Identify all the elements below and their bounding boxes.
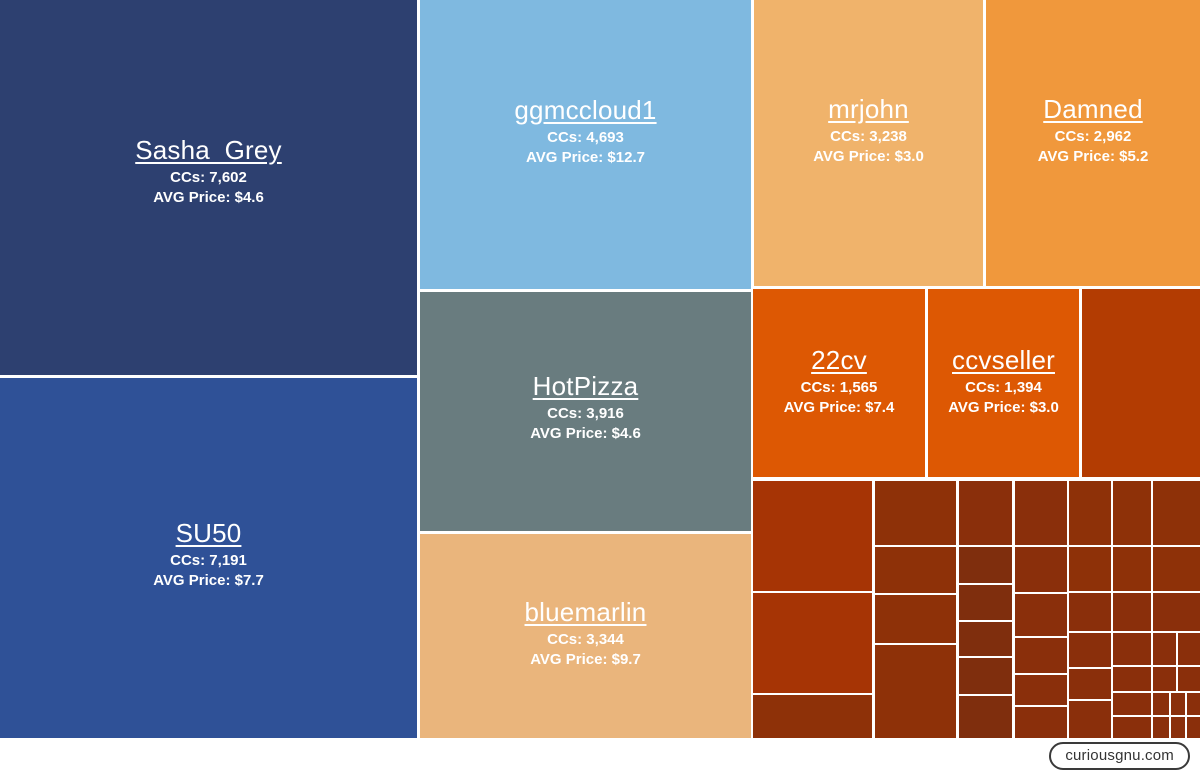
tile-label-group: Sasha_GreyCCs: 7,602AVG Price: $4.6 bbox=[0, 135, 417, 207]
treemap-tile-ggmccloud1[interactable]: ggmccloud1CCs: 4,693AVG Price: $12.7 bbox=[420, 0, 751, 289]
treemap-tile-unlabeled[interactable] bbox=[1113, 717, 1151, 738]
tile-avg-price-value: AVG Price: $3.0 bbox=[813, 148, 924, 166]
treemap-tile-unlabeled[interactable] bbox=[1082, 289, 1200, 477]
treemap-tile-unlabeled[interactable] bbox=[1015, 707, 1067, 738]
tile-ccs-value: CCs: 2,962 bbox=[1055, 128, 1132, 146]
treemap-tile-unlabeled[interactable] bbox=[1113, 667, 1151, 691]
treemap-tile-unlabeled[interactable] bbox=[1069, 547, 1111, 591]
treemap-tile-unlabeled[interactable] bbox=[959, 481, 1012, 545]
tile-label-group: DamnedCCs: 2,962AVG Price: $5.2 bbox=[986, 94, 1200, 166]
tile-ccs-value: CCs: 1,565 bbox=[801, 379, 878, 397]
treemap-tile-unlabeled[interactable] bbox=[1015, 594, 1067, 636]
treemap-tile-unlabeled[interactable] bbox=[1015, 675, 1067, 705]
treemap-tile-unlabeled[interactable] bbox=[1069, 701, 1111, 738]
treemap-tile-unlabeled[interactable] bbox=[1153, 667, 1176, 691]
tile-label-group: mrjohnCCs: 3,238AVG Price: $3.0 bbox=[754, 94, 983, 166]
tile-ccs-value: CCs: 3,344 bbox=[547, 631, 624, 649]
treemap-tile-su50[interactable]: SU50CCs: 7,191AVG Price: $7.7 bbox=[0, 378, 417, 738]
tile-label-spacer bbox=[420, 292, 751, 371]
tile-title: HotPizza bbox=[533, 371, 639, 403]
tile-avg-price-value: AVG Price: $12.7 bbox=[526, 149, 645, 167]
treemap-tile-unlabeled[interactable] bbox=[959, 585, 1012, 620]
treemap-tile-sasha_grey[interactable]: Sasha_GreyCCs: 7,602AVG Price: $4.6 bbox=[0, 0, 417, 375]
tile-label-spacer bbox=[753, 289, 925, 345]
treemap-tile-unlabeled[interactable] bbox=[875, 595, 956, 643]
treemap-tile-unlabeled[interactable] bbox=[959, 696, 1012, 738]
treemap-tile-unlabeled[interactable] bbox=[1171, 717, 1185, 738]
treemap-tile-unlabeled[interactable] bbox=[1153, 547, 1200, 591]
treemap-tile-unlabeled[interactable] bbox=[1069, 593, 1111, 631]
treemap-tile-unlabeled[interactable] bbox=[1153, 481, 1200, 545]
treemap-tile-mrjohn[interactable]: mrjohnCCs: 3,238AVG Price: $3.0 bbox=[754, 0, 983, 286]
treemap-tile-unlabeled[interactable] bbox=[753, 695, 872, 738]
treemap-tile-unlabeled[interactable] bbox=[1113, 481, 1151, 545]
tile-label-spacer bbox=[420, 534, 751, 597]
treemap-tile-unlabeled[interactable] bbox=[1178, 667, 1200, 691]
treemap-tile-unlabeled[interactable] bbox=[959, 547, 1012, 583]
tile-avg-price-value: AVG Price: $3.0 bbox=[948, 399, 1059, 417]
tile-title: Sasha_Grey bbox=[135, 135, 282, 167]
tile-title: ggmccloud1 bbox=[514, 95, 656, 127]
watermark-label: curiousgnu.com bbox=[1065, 747, 1174, 764]
treemap-tile-unlabeled[interactable] bbox=[753, 593, 872, 693]
treemap-tile-unlabeled[interactable] bbox=[1113, 693, 1151, 715]
treemap-tile-unlabeled[interactable] bbox=[959, 658, 1012, 694]
treemap-tile-ccvseller[interactable]: ccvsellerCCs: 1,394AVG Price: $3.0 bbox=[928, 289, 1079, 477]
tile-avg-price-value: AVG Price: $7.4 bbox=[784, 399, 895, 417]
treemap-tile-unlabeled[interactable] bbox=[1153, 693, 1169, 715]
tile-label-spacer bbox=[0, 378, 417, 518]
tile-label-group: bluemarlinCCs: 3,344AVG Price: $9.7 bbox=[420, 597, 751, 669]
tile-avg-price-value: AVG Price: $5.2 bbox=[1038, 148, 1149, 166]
tile-ccs-value: CCs: 3,916 bbox=[547, 405, 624, 423]
tile-label-group: ggmccloud1CCs: 4,693AVG Price: $12.7 bbox=[420, 95, 751, 167]
tile-label-spacer bbox=[0, 0, 417, 135]
tile-label-group: HotPizzaCCs: 3,916AVG Price: $4.6 bbox=[420, 371, 751, 443]
treemap-tile-unlabeled[interactable] bbox=[1171, 693, 1185, 715]
treemap-tile-unlabeled[interactable] bbox=[1187, 717, 1200, 738]
tile-label-spacer bbox=[986, 0, 1200, 94]
treemap-tile-unlabeled[interactable] bbox=[1015, 481, 1067, 545]
tile-label-group: ccvsellerCCs: 1,394AVG Price: $3.0 bbox=[928, 345, 1079, 417]
treemap-tile-unlabeled[interactable] bbox=[1069, 669, 1111, 699]
treemap-tile-hotpizza[interactable]: HotPizzaCCs: 3,916AVG Price: $4.6 bbox=[420, 292, 751, 531]
tile-avg-price-value: AVG Price: $7.7 bbox=[153, 572, 264, 590]
treemap-tile-bluemarlin[interactable]: bluemarlinCCs: 3,344AVG Price: $9.7 bbox=[420, 534, 751, 738]
treemap-tile-unlabeled[interactable] bbox=[875, 481, 956, 545]
treemap-tile-unlabeled[interactable] bbox=[1069, 633, 1111, 667]
treemap-tile-unlabeled[interactable] bbox=[1113, 633, 1151, 665]
tile-ccs-value: CCs: 7,191 bbox=[170, 552, 247, 570]
treemap-tile-damned[interactable]: DamnedCCs: 2,962AVG Price: $5.2 bbox=[986, 0, 1200, 286]
tile-ccs-value: CCs: 7,602 bbox=[170, 169, 247, 187]
tile-title: SU50 bbox=[176, 518, 242, 550]
treemap-chart: Sasha_GreyCCs: 7,602AVG Price: $4.6SU50C… bbox=[0, 0, 1200, 738]
tile-ccs-value: CCs: 1,394 bbox=[965, 379, 1042, 397]
treemap-tile-unlabeled[interactable] bbox=[1015, 547, 1067, 592]
treemap-tile-unlabeled[interactable] bbox=[1015, 638, 1067, 673]
tile-label-spacer bbox=[420, 0, 751, 95]
treemap-tile-unlabeled[interactable] bbox=[1153, 633, 1176, 665]
tile-title: 22cv bbox=[811, 345, 867, 377]
treemap-tile-unlabeled[interactable] bbox=[1113, 547, 1151, 591]
treemap-tile-unlabeled[interactable] bbox=[1178, 633, 1200, 665]
tile-label-group: 22cvCCs: 1,565AVG Price: $7.4 bbox=[753, 345, 925, 417]
tile-title: Damned bbox=[1043, 94, 1142, 126]
tile-avg-price-value: AVG Price: $4.6 bbox=[153, 189, 264, 207]
treemap-tile-unlabeled[interactable] bbox=[753, 481, 872, 591]
tile-avg-price-value: AVG Price: $4.6 bbox=[530, 425, 641, 443]
treemap-tile-unlabeled[interactable] bbox=[1069, 481, 1111, 545]
treemap-tile-unlabeled[interactable] bbox=[1153, 593, 1200, 631]
tile-title: bluemarlin bbox=[525, 597, 647, 629]
treemap-tile-unlabeled[interactable] bbox=[875, 645, 956, 738]
tile-ccs-value: CCs: 4,693 bbox=[547, 129, 624, 147]
tile-title: mrjohn bbox=[828, 94, 909, 126]
tile-label-spacer bbox=[928, 289, 1079, 345]
tile-ccs-value: CCs: 3,238 bbox=[830, 128, 907, 146]
watermark-badge: curiousgnu.com bbox=[1049, 742, 1190, 770]
treemap-tile-unlabeled[interactable] bbox=[1113, 593, 1151, 631]
tile-avg-price-value: AVG Price: $9.7 bbox=[530, 651, 641, 669]
treemap-tile-unlabeled[interactable] bbox=[875, 547, 956, 593]
tile-label-group: SU50CCs: 7,191AVG Price: $7.7 bbox=[0, 518, 417, 590]
tile-label-spacer bbox=[754, 0, 983, 94]
tile-title: ccvseller bbox=[952, 345, 1055, 377]
treemap-tile-unlabeled[interactable] bbox=[1153, 717, 1169, 738]
treemap-tile-unlabeled[interactable] bbox=[959, 622, 1012, 656]
treemap-tile-unlabeled[interactable] bbox=[1187, 693, 1200, 715]
treemap-tile-22cv[interactable]: 22cvCCs: 1,565AVG Price: $7.4 bbox=[753, 289, 925, 477]
